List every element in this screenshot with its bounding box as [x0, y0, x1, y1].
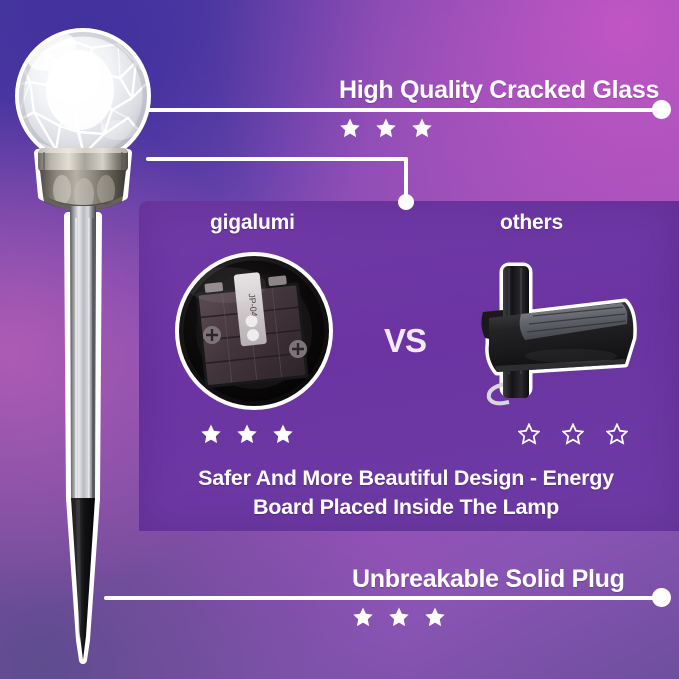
- callout-top-title: High Quality Cracked Glass: [339, 76, 659, 105]
- product-feature-graphic: gigalumi others: [0, 0, 679, 679]
- star-filled-icon: [272, 423, 294, 445]
- star-outline-icon: [518, 423, 540, 445]
- star-filled-icon: [339, 117, 361, 139]
- panel-caption-line1: Safer And More Beautiful Design - Energy: [149, 464, 663, 493]
- callout-bottom-endpoint-dot: [652, 588, 671, 607]
- panel-connector-dot: [398, 194, 414, 210]
- panel-label-gigalumi: gigalumi: [210, 211, 295, 235]
- callout-bottom-star-rating: [352, 606, 446, 628]
- star-filled-icon: [200, 423, 222, 445]
- star-filled-icon: [352, 606, 374, 628]
- star-filled-icon: [236, 423, 258, 445]
- gigalumi-star-rating: [200, 423, 294, 445]
- others-photo-svg: [475, 256, 647, 406]
- panel-label-others: others: [500, 211, 563, 235]
- star-filled-icon: [375, 117, 397, 139]
- callout-top-endpoint-dot: [652, 100, 671, 119]
- callout-bottom-line: [104, 596, 661, 600]
- star-filled-icon: [388, 606, 410, 628]
- star-filled-icon: [411, 117, 433, 139]
- others-star-rating: [518, 423, 628, 445]
- comparison-panel: gigalumi others: [139, 201, 679, 531]
- star-filled-icon: [424, 606, 446, 628]
- callout-top-line: [133, 108, 660, 112]
- panel-caption-line2: Board Placed Inside The Lamp: [149, 493, 663, 522]
- callout-top-star-rating: [339, 117, 433, 139]
- gigalumi-product-photo: JP-04: [174, 251, 334, 411]
- others-product-photo: [475, 256, 647, 406]
- star-outline-icon: [606, 423, 628, 445]
- gigalumi-photo-svg: JP-04: [174, 251, 334, 411]
- solar-light-product-image: [0, 0, 170, 679]
- callout-bottom-title: Unbreakable Solid Plug: [352, 565, 625, 594]
- vs-label: VS: [384, 322, 426, 360]
- star-outline-icon: [562, 423, 584, 445]
- panel-connector-horizontal: [146, 157, 408, 161]
